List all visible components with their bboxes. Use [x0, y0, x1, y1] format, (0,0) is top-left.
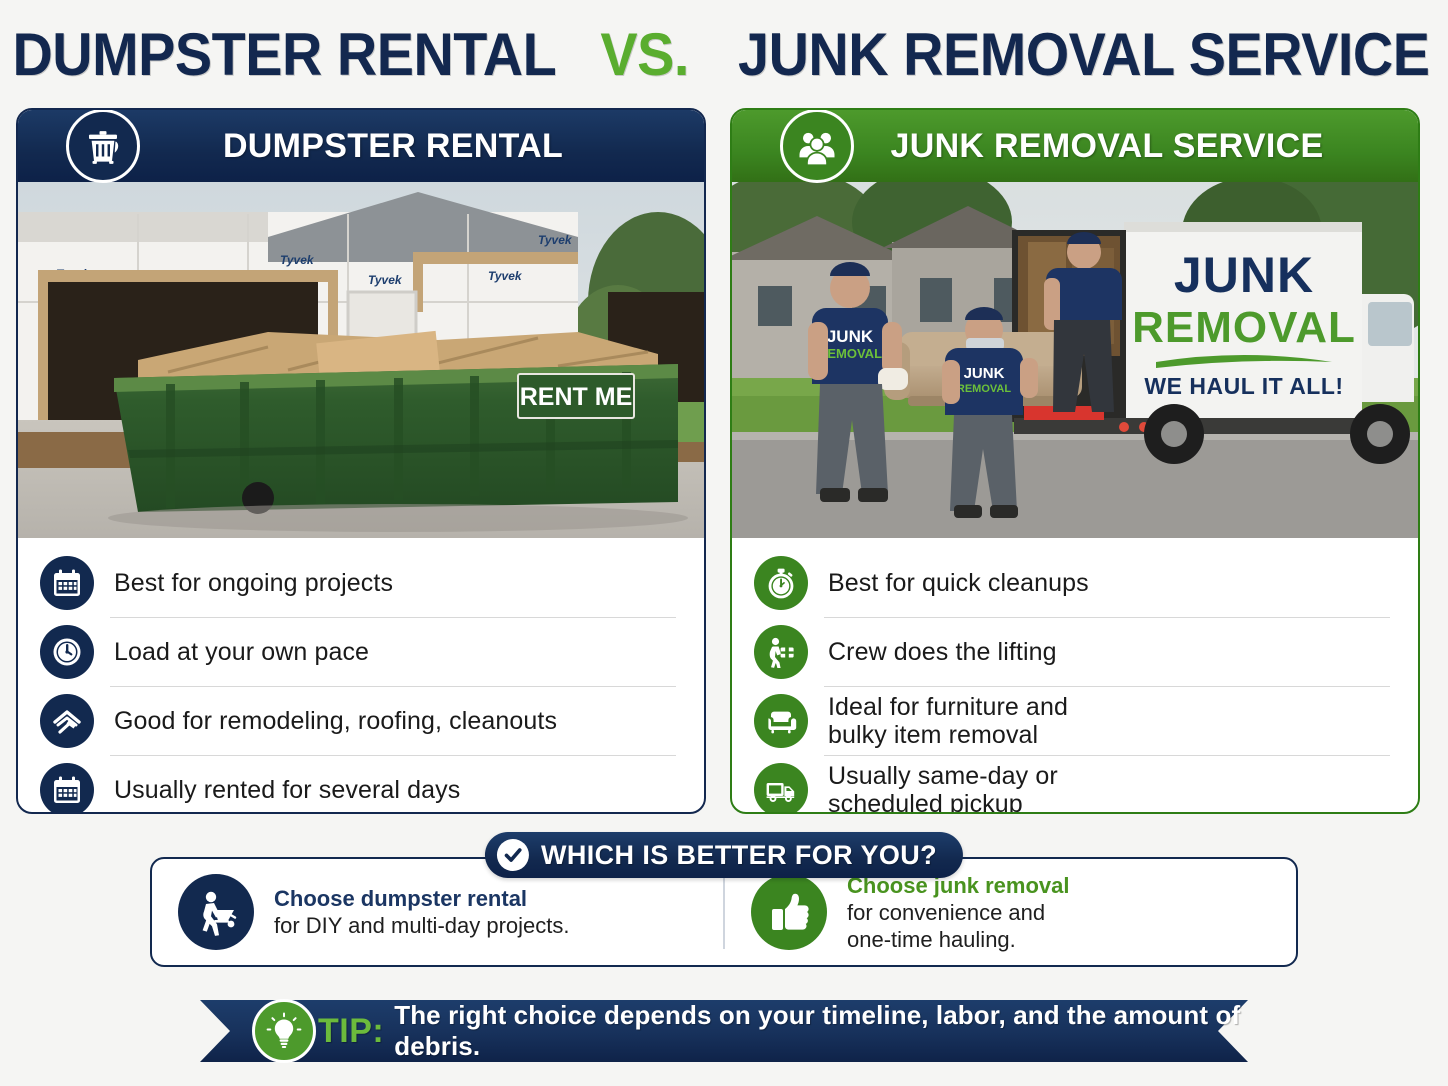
recommendation-dumpster: Choose dumpster rental for DIY and multi…	[152, 874, 723, 950]
page-title: DUMPSTER RENTAL VS. JUNK REMOVAL SERVICE	[0, 14, 1448, 96]
thumbs-up-icon	[751, 874, 827, 950]
lightbulb-icon	[252, 999, 316, 1063]
tip-label: TIP:	[318, 1012, 384, 1051]
recommendation-dumpster-copy: Choose dumpster rental for DIY and multi…	[274, 885, 570, 939]
calendar-icon	[40, 556, 94, 610]
list-item: Ideal for furniture andbulky item remova…	[754, 686, 1396, 755]
title-part-2: JUNK REMOVAL SERVICE	[738, 24, 1429, 86]
sofa-icon	[754, 694, 808, 748]
list-item: Best for quick cleanups	[754, 548, 1396, 617]
list-item-label: Usually same-day orscheduled pickup	[828, 762, 1058, 815]
list-item: Crew does the lifting	[754, 617, 1396, 686]
tip-text: The right choice depends on your timelin…	[394, 1000, 1248, 1062]
calendar-icon	[40, 763, 94, 815]
truck-icon	[754, 763, 808, 815]
svg-text:REMOVAL: REMOVAL	[957, 383, 1011, 395]
recommendation-junk-copy: Choose junk removal for convenience ando…	[847, 872, 1070, 953]
junk-card-header: JUNK REMOVAL SERVICE	[732, 110, 1418, 182]
recommendation-junk: Choose junk removal for convenience ando…	[725, 872, 1296, 953]
recommendation-dumpster-headline: Choose dumpster rental	[274, 885, 570, 912]
junk-removal-card: JUNK REMOVAL SERVICE	[730, 108, 1420, 814]
svg-text:JUNK: JUNK	[1174, 247, 1314, 303]
dumpster-photo: TyvekTyvek TyvekTyvek TyvekTyvek	[18, 182, 704, 538]
clock-icon	[40, 625, 94, 679]
list-item: Good for remodeling, roofing, cleanouts	[40, 686, 682, 755]
list-item: Best for ongoing projects	[40, 548, 682, 617]
tip-content: TIP: The right choice depends on your ti…	[200, 1000, 1248, 1062]
dumpster-card-header: DUMPSTER RENTAL	[18, 110, 704, 182]
people-group-icon	[780, 109, 854, 183]
svg-text:RENT ME: RENT ME	[520, 383, 633, 411]
svg-text:JUNK: JUNK	[827, 327, 874, 346]
house-hammer-icon	[40, 694, 94, 748]
list-item-label: Usually rented for several days	[114, 776, 460, 804]
recommendation-dumpster-subline: for DIY and multi-day projects.	[274, 912, 570, 939]
dumpster-icon	[66, 109, 140, 183]
title-part-1: DUMPSTER RENTAL	[13, 24, 557, 86]
recommendation-junk-subline: for convenience andone-time hauling.	[847, 899, 1070, 953]
infographic-page: DUMPSTER RENTAL VS. JUNK REMOVAL SERVICE	[0, 0, 1448, 1086]
tip-ribbon: TIP: The right choice depends on your ti…	[200, 1000, 1248, 1062]
junk-removal-photo: JUNK REMOVAL WE HAUL IT ALL!	[732, 182, 1418, 538]
dumpster-rental-card: DUMPSTER RENTAL	[16, 108, 706, 814]
stopwatch-icon	[754, 556, 808, 610]
junk-feature-list: Best for quick cleanups Crew does the li…	[732, 538, 1418, 814]
svg-text:JUNK: JUNK	[964, 365, 1005, 382]
list-item: Load at your own pace	[40, 617, 682, 686]
check-circle-icon	[497, 839, 529, 871]
svg-text:Tyvek: Tyvek	[368, 273, 403, 287]
list-item-label: Best for quick cleanups	[828, 569, 1089, 597]
which-is-better-badge: WHICH IS BETTER FOR YOU?	[485, 832, 963, 878]
svg-text:Tyvek: Tyvek	[280, 253, 315, 267]
list-item: Usually same-day orscheduled pickup	[754, 755, 1396, 814]
svg-text:REMOVAL: REMOVAL	[1132, 303, 1356, 352]
list-item-label: Load at your own pace	[114, 638, 369, 666]
person-carrying-box-icon	[754, 625, 808, 679]
list-item-label: Best for ongoing projects	[114, 569, 393, 597]
list-item-label: Good for remodeling, roofing, cleanouts	[114, 707, 557, 735]
title-vs: VS.	[600, 24, 689, 86]
list-item-label: Crew does the lifting	[828, 638, 1057, 666]
svg-text:WE HAUL IT ALL!: WE HAUL IT ALL!	[1144, 373, 1343, 399]
dumpster-feature-list: Best for ongoing projects Load at your o…	[18, 538, 704, 814]
which-is-better-label: WHICH IS BETTER FOR YOU?	[541, 840, 937, 871]
list-item: Usually rented for several days	[40, 755, 682, 814]
list-item-label: Ideal for furniture andbulky item remova…	[828, 693, 1068, 749]
svg-text:Tyvek: Tyvek	[488, 269, 523, 283]
wheelbarrow-icon	[178, 874, 254, 950]
svg-text:Tyvek: Tyvek	[538, 233, 573, 247]
